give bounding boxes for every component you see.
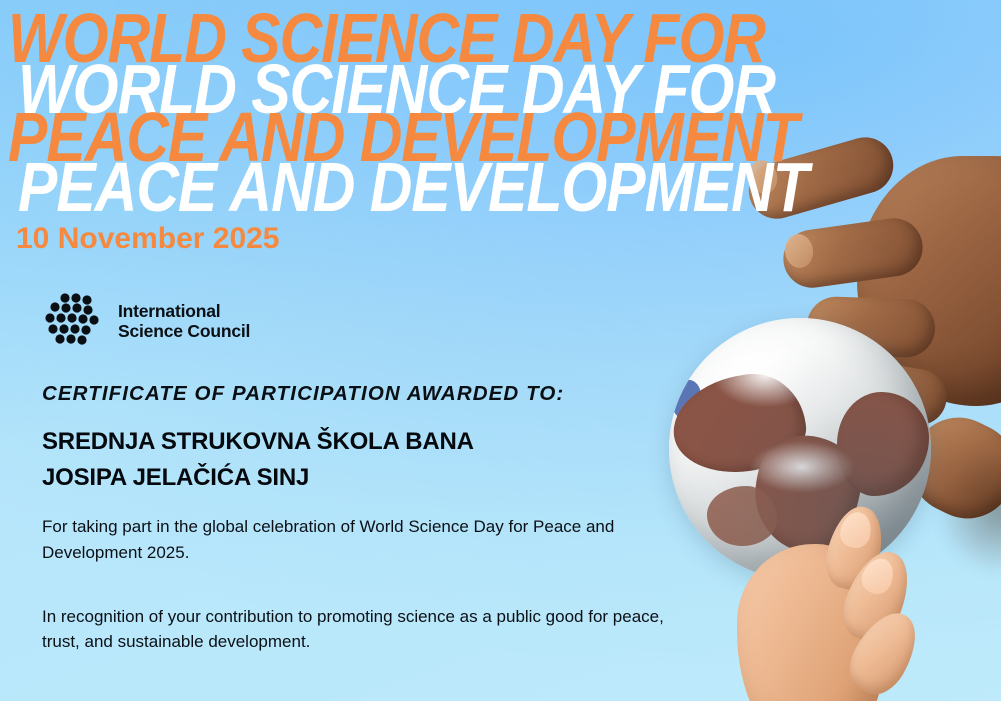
headline-line2-white: PEACE AND DEVELOPMENT bbox=[18, 153, 808, 223]
logo-wordmark: International Science Council bbox=[118, 302, 250, 341]
certificate-body: CERTIFICATE OF PARTICIPATION AWARDED TO:… bbox=[42, 382, 702, 655]
certificate-page: WORLD SCIENCE DAY FOR WORLD SCIENCE DAY … bbox=[0, 0, 1001, 701]
international-science-council-logo: International Science Council bbox=[42, 291, 250, 353]
recipient-name-line2: JOSIPA JELAČIĆA SINJ bbox=[42, 460, 702, 496]
globe-shading bbox=[669, 318, 931, 580]
white-globe-with-brown-continents bbox=[669, 318, 931, 580]
certificate-paragraph-2: In recognition of your contribution to p… bbox=[42, 604, 687, 656]
certificate-paragraph-1: For taking part in the global celebratio… bbox=[42, 514, 687, 566]
isc-dot-cluster-logo bbox=[42, 291, 104, 353]
awarded-to-label: CERTIFICATE OF PARTICIPATION AWARDED TO: bbox=[42, 382, 702, 406]
event-date: 10 November 2025 bbox=[16, 222, 280, 256]
logo-wordmark-line2: Science Council bbox=[118, 322, 250, 342]
logo-wordmark-line1: International bbox=[118, 302, 250, 322]
headline-block: WORLD SCIENCE DAY FOR WORLD SCIENCE DAY … bbox=[0, 0, 1001, 215]
recipient-name-line1: SREDNJA STRUKOVNA ŠKOLA BANA bbox=[42, 424, 702, 460]
